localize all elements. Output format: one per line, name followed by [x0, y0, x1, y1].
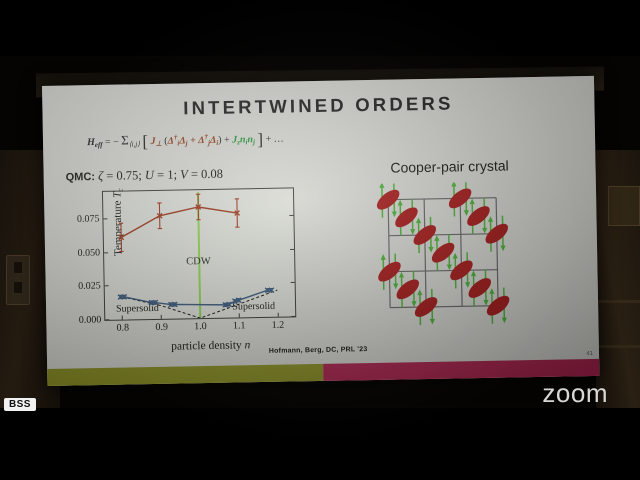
- lattice-bond-horizontal: [389, 234, 497, 236]
- lattice-bond-vertical: [496, 198, 498, 306]
- pair-ellipse: [393, 276, 422, 303]
- slide-number: 41: [586, 351, 593, 357]
- wall-shelf: [598, 300, 640, 303]
- lattice-bond-vertical: [460, 198, 462, 306]
- wall-outlet: [6, 255, 30, 305]
- spin-arrow-head: [381, 254, 386, 260]
- cooper-pair: [428, 234, 458, 271]
- hamiltonian-equation: Heff = − Σ⟨i,j⟩ [ J⊥ (Δ†iΔj + Δ†jΔi) + J…: [87, 130, 284, 154]
- equation-n-j-sub: j: [253, 138, 255, 146]
- qmc-v-symbol: V: [180, 167, 188, 181]
- equation-j-perp-sub: ⊥: [156, 140, 162, 148]
- equation-tail: + …: [266, 134, 284, 145]
- equation-sigma-sub: ⟨i,j⟩: [129, 140, 140, 148]
- equation-paren-close: ): [218, 135, 222, 146]
- equation-bracket-open: [: [142, 132, 148, 151]
- x-tick-label: 1.0: [194, 321, 207, 332]
- spin-arrow-head: [416, 217, 421, 223]
- series-line: [121, 206, 238, 237]
- wall-sign: [608, 186, 640, 226]
- equation-plus-inner: +: [190, 135, 196, 146]
- equation-lhs-sub: eff: [95, 141, 103, 149]
- spin-arrow-head: [411, 301, 416, 307]
- cooper-pair: [393, 271, 423, 308]
- equation-delta2-sub: j: [186, 139, 188, 147]
- pair-ellipse: [465, 274, 494, 301]
- spin-arrow-head: [393, 284, 398, 290]
- spin-arrow-head: [392, 212, 397, 218]
- cooper-pair: [465, 270, 495, 307]
- speaker-badge: BSS: [4, 398, 36, 411]
- spin-arrow-head: [430, 319, 435, 325]
- spin-arrow-head: [428, 247, 433, 253]
- qmc-zeta-symbol: ζ: [98, 169, 103, 183]
- spin-arrow-head: [464, 210, 469, 216]
- equation-bracket-close: ]: [257, 130, 263, 149]
- qmc-u-value: = 1;: [157, 168, 177, 182]
- x-tick-label: 0.9: [155, 322, 168, 333]
- equation-plus-outer: +: [224, 135, 230, 146]
- equation-lhs: H: [87, 137, 95, 148]
- qmc-v-value: = 0.08: [191, 167, 223, 182]
- spin-arrow-head: [500, 246, 505, 252]
- spin-arrow-head: [502, 318, 507, 324]
- phase-diagram-plot: Temperature Tc particle density n 0.0000…: [102, 187, 296, 320]
- letterbox-bottom: [0, 408, 640, 480]
- zoom-watermark: zoom: [542, 378, 608, 409]
- y-tick-label: 0.025: [78, 281, 101, 292]
- y-tick-label: 0.075: [77, 213, 100, 224]
- spin-arrow-head: [434, 235, 439, 241]
- spin-arrow-head: [447, 265, 452, 271]
- spin-arrow-head: [379, 182, 384, 188]
- cooper-pair-crystal-diagram: [366, 181, 537, 334]
- y-tick-label: 0.000: [79, 314, 102, 325]
- cooper-pair: [392, 199, 422, 236]
- pair-ellipse: [392, 204, 421, 231]
- lattice-bond-horizontal: [388, 198, 496, 200]
- spin-arrow-head: [470, 198, 475, 204]
- spin-arrow-head: [489, 288, 494, 294]
- spin-arrow-head: [451, 181, 456, 187]
- equation-equals: = −: [105, 137, 119, 148]
- lattice-bond-horizontal: [389, 270, 497, 272]
- citation: Hofmann, Berg, DC, PRL '23: [269, 346, 368, 355]
- cooper-pair: [463, 198, 493, 235]
- plot-canvas: [103, 188, 295, 319]
- series-line: [120, 290, 271, 307]
- spin-arrow-head: [398, 200, 403, 206]
- cooper-pair-crystal-title: Cooper-pair crystal: [329, 156, 569, 176]
- slide-title: INTERTWINED ORDERS: [42, 90, 594, 122]
- y-tick-label: 0.050: [77, 247, 100, 258]
- spin-arrow-head: [488, 216, 493, 222]
- qmc-parameters: QMC: ζ = 0.75; U = 1; V = 0.08: [66, 167, 224, 185]
- spin-arrow-head: [399, 272, 404, 278]
- wall-shelf-lower: [598, 345, 640, 348]
- spin-arrow-head: [483, 300, 488, 306]
- lattice-bond-vertical: [424, 199, 426, 307]
- x-tick-label: 1.1: [233, 320, 246, 331]
- letterbox-top: [0, 0, 640, 56]
- video-frame: INTERTWINED ORDERS Heff = − Σ⟨i,j⟩ [ J⊥ …: [0, 0, 640, 480]
- spin-arrow-head: [410, 229, 415, 235]
- lattice-bond-vertical: [388, 200, 390, 308]
- x-tick-label: 0.8: [117, 322, 130, 333]
- equation-sigma: Σ: [121, 132, 129, 147]
- pair-ellipse: [429, 239, 458, 266]
- pair-ellipse: [464, 202, 493, 229]
- x-tick-label: 1.2: [272, 320, 285, 331]
- spin-arrow-head: [465, 282, 470, 288]
- spin-arrow-head: [482, 228, 487, 234]
- spin-arrow-head: [471, 270, 476, 276]
- spin-arrow-head: [453, 253, 458, 259]
- lattice-bond-horizontal: [390, 306, 498, 308]
- spin-arrow-head: [417, 289, 422, 295]
- presentation-slide: INTERTWINED ORDERS Heff = − Σ⟨i,j⟩ [ J⊥ …: [42, 76, 599, 386]
- qmc-tag: QMC:: [66, 171, 96, 184]
- qmc-u-symbol: U: [145, 168, 154, 182]
